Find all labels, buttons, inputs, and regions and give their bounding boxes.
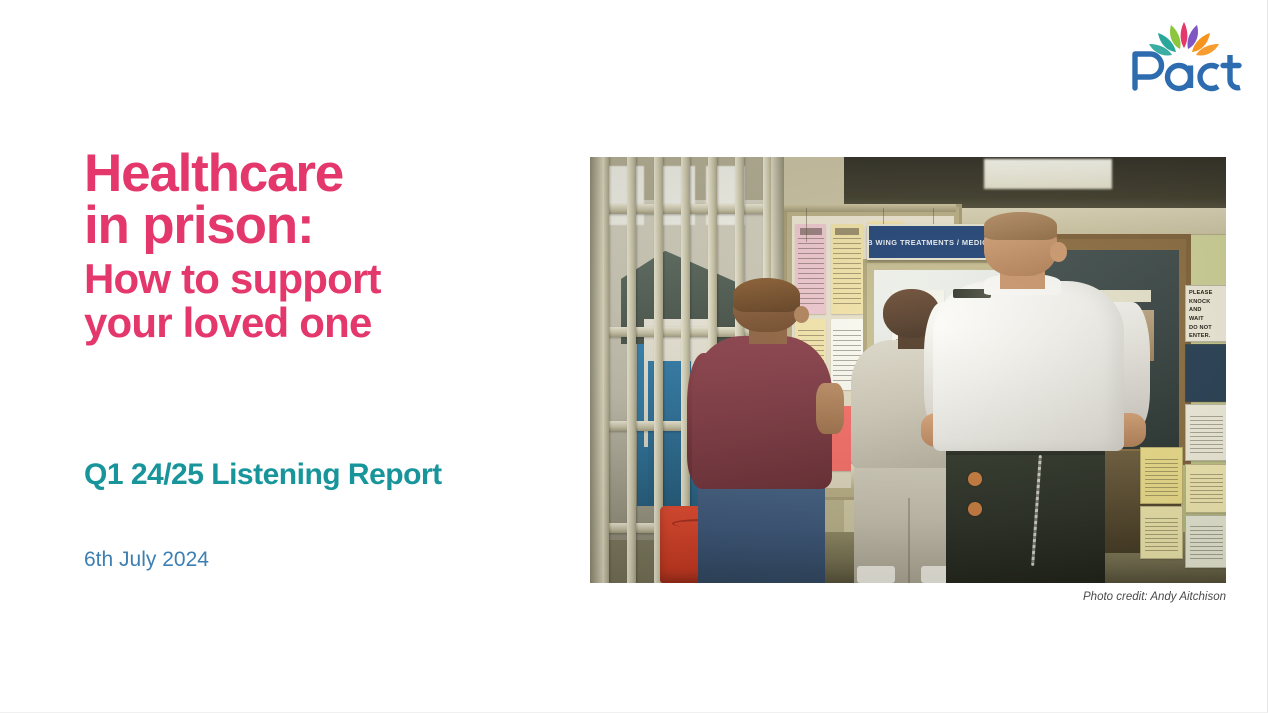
photo-person2-shoe-left xyxy=(857,566,895,583)
logo-wordmark-icon xyxy=(1135,54,1240,89)
photo-gate-window-1 xyxy=(606,166,645,226)
photo-notice-board-rail xyxy=(784,204,956,212)
photo-knock-sign: PLEASE KNOCK AND WAIT DO NOT ENTER. xyxy=(1185,285,1226,342)
pact-logo-svg xyxy=(1122,14,1246,92)
photo-knock-sign-text: PLEASE KNOCK AND WAIT DO NOT ENTER. xyxy=(1189,289,1224,341)
date-label: 6th July 2024 xyxy=(84,548,209,572)
photo-right-poster xyxy=(1140,506,1183,559)
photo-person2-leg-seam xyxy=(908,498,910,583)
pact-logo[interactable] xyxy=(1122,14,1246,92)
photo-person1-hair xyxy=(733,278,800,312)
photo-gate-bar-v-2 xyxy=(627,157,636,583)
photo-officer-shirt xyxy=(933,281,1124,451)
photo-board-wire-1 xyxy=(806,208,807,242)
title-block: Healthcare in prison: How to support you… xyxy=(84,148,564,346)
slide-root: Healthcare in prison: How to support you… xyxy=(0,0,1268,713)
photo-person1-forearm xyxy=(816,383,845,434)
photo-right-poster xyxy=(1185,344,1226,401)
report-label: Q1 24/25 Listening Report xyxy=(84,458,442,492)
photo-person1-ear xyxy=(794,306,809,323)
photo-officer-hair xyxy=(984,212,1057,240)
photo-ceiling-light xyxy=(984,159,1111,189)
photo-credit: Photo credit: Andy Aitchison xyxy=(0,591,1226,603)
photo-poster xyxy=(831,224,863,314)
photo-right-poster xyxy=(1185,404,1226,461)
photo-right-poster xyxy=(1140,447,1183,504)
logo-petals-icon xyxy=(1149,22,1219,56)
photo-person1-shirt xyxy=(692,336,832,489)
photo-officer-ear xyxy=(1050,242,1067,262)
page-title: Healthcare in prison: xyxy=(84,148,564,253)
photo-gate-frame-left xyxy=(590,157,604,583)
page-subtitle: How to support your loved one xyxy=(84,257,564,346)
cover-photo: B WING TREATMENTS / MEDICAL ROOM PLEASE … xyxy=(590,157,1226,583)
photo-right-poster xyxy=(1185,515,1226,568)
photo-scene: B WING TREATMENTS / MEDICAL ROOM PLEASE … xyxy=(590,157,1226,583)
photo-poster xyxy=(795,224,826,314)
photo-right-poster xyxy=(1185,464,1226,513)
photo-officer-button-2 xyxy=(968,502,982,516)
